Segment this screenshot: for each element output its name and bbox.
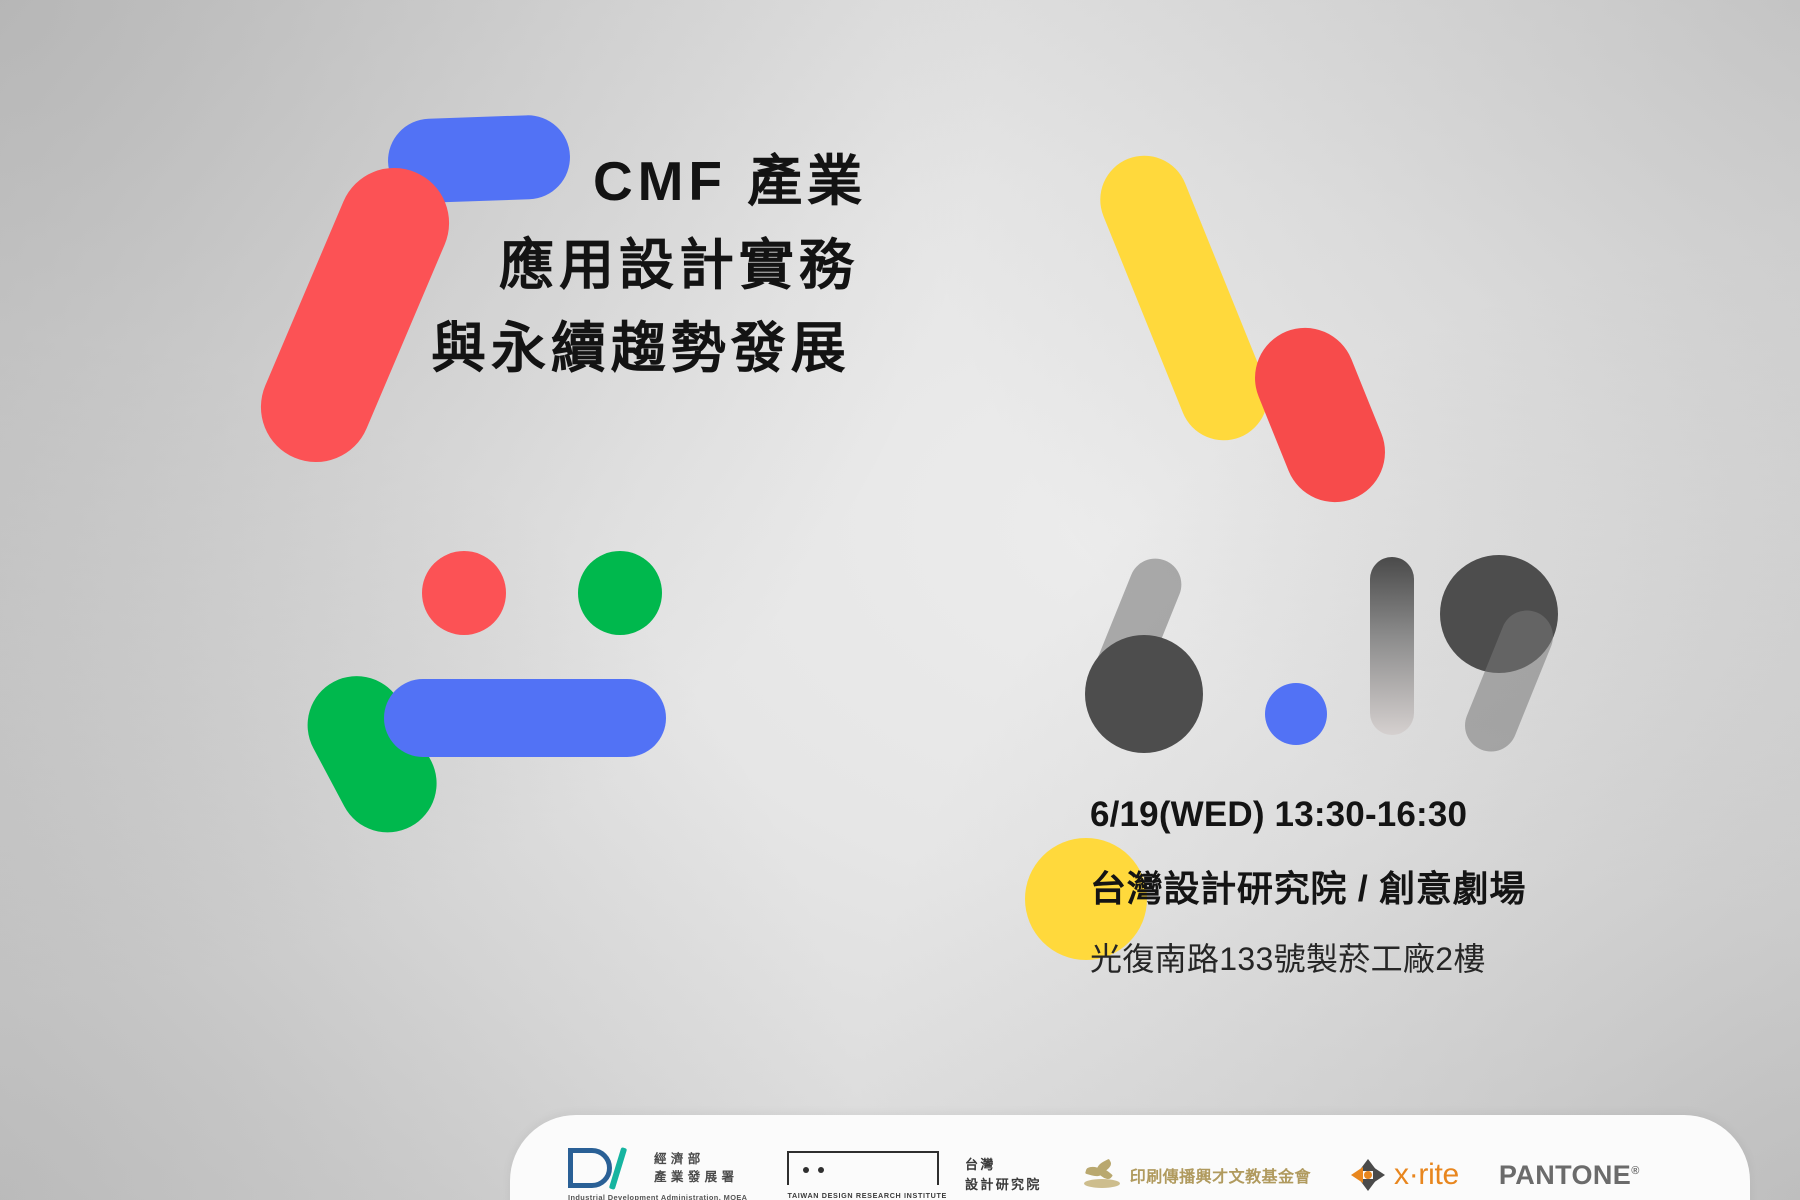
poster-canvas: CMF 產業 應用設計實務 與永續趨勢發展 6/19(WED) 13:30-16… — [0, 0, 1800, 1200]
blue-capsule-bottom — [384, 679, 666, 757]
logo-printing-communication-foundation: 印刷傳播興才文教基金會 — [1082, 1161, 1311, 1189]
date-graphic-619 — [1085, 555, 1565, 750]
glyph-1-stroke-icon — [1370, 557, 1414, 735]
tdri-english-name: TAIWAN DESIGN RESEARCH INSTITUTE — [787, 1191, 947, 1200]
poster-headline: CMF 產業 應用設計實務 與永續趨勢發展 — [495, 140, 1175, 391]
tdri-cn-line-2: 設計研究院 — [965, 1175, 1042, 1195]
tdri-chinese-name: 台灣 設計研究院 — [965, 1155, 1042, 1195]
headline-line-2: 應用設計實務 — [495, 224, 1175, 308]
logo-taiwan-design-research-institute: TAIWAN DESIGN RESEARCH INSTITUTE 台灣 設計研究… — [787, 1151, 1041, 1200]
ida-english-name: Industrial Development Administration, M… — [568, 1193, 747, 1200]
pantone-wordmark: PANTONE® — [1499, 1160, 1640, 1191]
da-monogram-icon — [568, 1148, 638, 1188]
event-venue: 台灣設計研究院 / 創意劇場 — [1090, 860, 1710, 912]
ida-cn-line-2: 產業發展署 — [654, 1168, 738, 1186]
event-address: 光復南路133號製菸工廠2樓 — [1090, 934, 1710, 980]
leaf-icon — [1082, 1161, 1122, 1189]
logo-x-rite: x·rite — [1351, 1158, 1459, 1192]
headline-line-3: 與永續趨勢發展 — [431, 307, 1175, 391]
ida-chinese-name: 經濟部 產業發展署 — [654, 1150, 738, 1186]
logo-industrial-development-administration: 經濟部 產業發展署 Industrial Development Adminis… — [568, 1148, 747, 1200]
bracket-face-icon — [787, 1151, 939, 1185]
glyph-dot-icon — [1265, 683, 1327, 745]
event-datetime: 6/19(WED) 13:30-16:30 — [1090, 795, 1710, 835]
sponsor-logo-bar: 經濟部 產業發展署 Industrial Development Adminis… — [510, 1115, 1750, 1200]
registered-mark-icon: ® — [1631, 1165, 1640, 1177]
ida-cn-line-1: 經濟部 — [654, 1150, 738, 1168]
logo-pantone: PANTONE® — [1499, 1160, 1640, 1191]
glyph-6-bowl-icon — [1085, 635, 1203, 753]
x-diamond-icon — [1351, 1158, 1385, 1192]
foundation-chinese-name: 印刷傳播興才文教基金會 — [1130, 1163, 1311, 1187]
green-dot — [578, 551, 662, 635]
headline-line-1: CMF 產業 — [495, 140, 1175, 224]
pantone-word: PANTONE — [1499, 1160, 1631, 1190]
red-capsule-right — [1240, 313, 1400, 517]
x-rite-wordmark: x·rite — [1394, 1158, 1459, 1192]
red-dot — [422, 551, 506, 635]
event-info-block: 6/19(WED) 13:30-16:30 台灣設計研究院 / 創意劇場 光復南… — [1090, 795, 1710, 980]
tdri-cn-line-1: 台灣 — [965, 1155, 1042, 1175]
